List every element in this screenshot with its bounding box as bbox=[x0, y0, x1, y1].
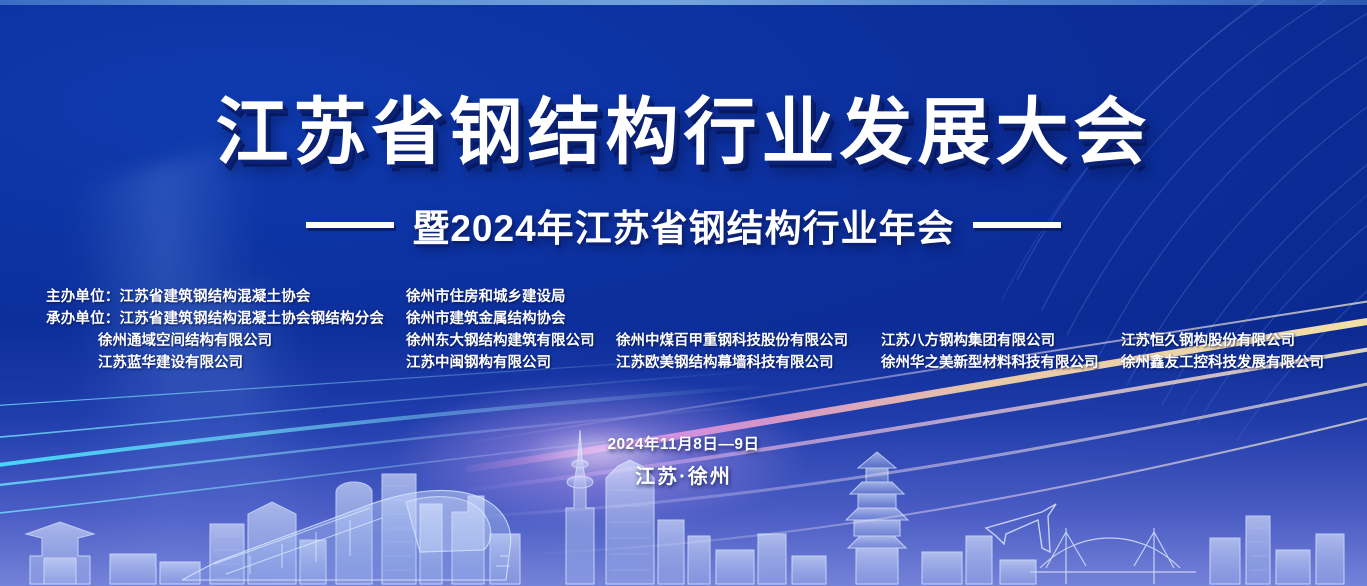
organizer-item: 徐州华之美新型材料科技有限公司 bbox=[881, 352, 1121, 374]
organizer-item: 江苏八方钢构集团有限公司 bbox=[881, 330, 1121, 352]
organizer-item: 徐州通域空间结构有限公司 bbox=[46, 330, 406, 352]
organizer-column-4: 江苏八方钢构集团有限公司 徐州华之美新型材料科技有限公司 bbox=[881, 286, 1121, 374]
coorganizer-row: 承办单位：江苏省建筑钢结构混凝土协会钢结构分会 bbox=[46, 308, 406, 330]
organizer-item: 江苏恒久钢构股份有限公司 bbox=[1121, 330, 1367, 352]
event-date: 2024年11月8日—9日 bbox=[0, 432, 1367, 454]
event-location: 江苏·徐州 bbox=[0, 460, 1367, 489]
subtitle-row: 暨2024年江苏省钢结构行业年会 bbox=[0, 198, 1367, 252]
conference-banner: 江苏省钢结构行业发展大会 暨2024年江苏省钢结构行业年会 主办单位：江苏省建筑… bbox=[0, 0, 1367, 586]
organizer-item: 江苏中闽钢构有限公司 bbox=[406, 352, 616, 374]
page-title: 江苏省钢结构行业发展大会 bbox=[0, 96, 1367, 169]
subtitle: 暨2024年江苏省钢结构行业年会 bbox=[412, 198, 954, 252]
organizer-column-2: 徐州市住房和城乡建设局 徐州市建筑金属结构协会 徐州东大钢结构建筑有限公司 江苏… bbox=[406, 286, 616, 374]
organizer-column-3: 徐州中煤百甲重钢科技股份有限公司 江苏欧美钢结构幕墙科技有限公司 bbox=[616, 286, 881, 374]
banner-content: 江苏省钢结构行业发展大会 暨2024年江苏省钢结构行业年会 主办单位：江苏省建筑… bbox=[0, 0, 1367, 586]
organizer-item: 徐州市建筑金属结构协会 bbox=[406, 308, 616, 330]
organizer-item: 江苏欧美钢结构幕墙科技有限公司 bbox=[616, 352, 881, 374]
host-row: 主办单位：江苏省建筑钢结构混凝土协会 bbox=[46, 286, 406, 308]
date-location-block: 2024年11月8日—9日 江苏·徐州 bbox=[0, 432, 1367, 489]
organizers-block: 主办单位：江苏省建筑钢结构混凝土协会 承办单位：江苏省建筑钢结构混凝土协会钢结构… bbox=[46, 286, 1337, 374]
subtitle-rule-left bbox=[306, 222, 394, 228]
organizer-item: 徐州中煤百甲重钢科技股份有限公司 bbox=[616, 330, 881, 352]
organizer-item: 江苏蓝华建设有限公司 bbox=[46, 352, 406, 374]
organizer-column-1: 主办单位：江苏省建筑钢结构混凝土协会 承办单位：江苏省建筑钢结构混凝土协会钢结构… bbox=[46, 286, 406, 374]
organizer-item: 徐州市住房和城乡建设局 bbox=[406, 286, 616, 308]
organizer-item: 徐州鑫友工控科技发展有限公司 bbox=[1121, 352, 1367, 374]
subtitle-rule-right bbox=[973, 222, 1061, 228]
title-block: 江苏省钢结构行业发展大会 bbox=[0, 96, 1367, 169]
organizer-item: 徐州东大钢结构建筑有限公司 bbox=[406, 330, 616, 352]
organizer-column-5: 江苏恒久钢构股份有限公司 徐州鑫友工控科技发展有限公司 bbox=[1121, 286, 1367, 374]
